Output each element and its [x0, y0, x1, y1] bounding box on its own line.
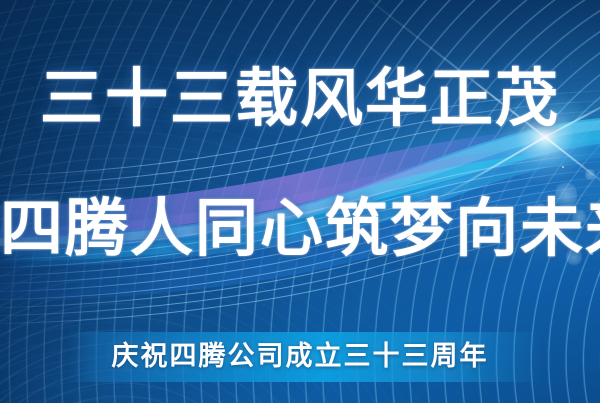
banner-content: 三十三载风华正茂 四腾人同心筑梦向未来 庆祝四腾公司成立三十三周年 [0, 0, 600, 403]
headline-line-1: 三十三载风华正茂 [0, 62, 600, 136]
headline-line-2: 四腾人同心筑梦向未来 [0, 192, 600, 266]
subtitle-text: 庆祝四腾公司成立三十三周年 [0, 338, 600, 376]
anniversary-banner: 三十三载风华正茂 四腾人同心筑梦向未来 庆祝四腾公司成立三十三周年 [0, 0, 600, 403]
